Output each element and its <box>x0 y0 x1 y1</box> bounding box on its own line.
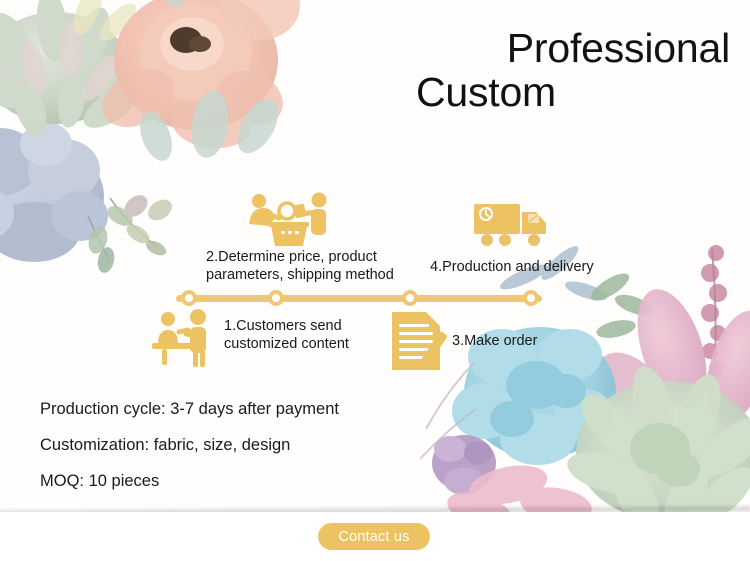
timeline-node-1[interactable] <box>181 290 197 306</box>
floral-bottom-right-svg <box>420 233 750 533</box>
delivery-truck-glyph <box>472 200 552 248</box>
step-1-label: 1.Customers send customized content <box>224 318 404 353</box>
process-timeline <box>176 290 542 306</box>
title-line-custom: Custom <box>330 70 730 114</box>
step-4-label: 4.Production and delivery <box>430 259 620 277</box>
floral-decoration-bottom-right <box>420 233 750 533</box>
timeline-node-2[interactable] <box>268 290 284 306</box>
step-2-label: 2.Determine price, product parameters, s… <box>206 249 418 284</box>
product-inspection-icon <box>243 192 335 248</box>
info-list: Production cycle: 3-7 days after payment… <box>40 400 460 508</box>
step-3-label: 3.Make order <box>452 333 602 351</box>
delivery-truck-icon <box>472 200 552 248</box>
title-line-professional: Professional <box>330 26 730 70</box>
customer-service-desk-glyph <box>152 306 222 368</box>
info-line-production-cycle: Production cycle: 3-7 days after payment <box>40 400 460 418</box>
timeline-node-4[interactable] <box>523 290 539 306</box>
page-title: Professional Custom <box>330 26 730 115</box>
promo-banner: Professional Custom 1.Customers send c <box>0 0 750 561</box>
contact-us-button[interactable]: Contact us <box>318 523 430 550</box>
product-inspection-glyph <box>243 192 335 248</box>
document-pen-icon <box>388 308 450 378</box>
document-pen-glyph <box>388 308 450 378</box>
info-line-moq: MOQ: 10 pieces <box>40 472 460 490</box>
timeline-node-3[interactable] <box>402 290 418 306</box>
customer-service-desk-icon <box>152 306 222 368</box>
info-line-customization: Customization: fabric, size, design <box>40 436 460 454</box>
timeline-rail <box>176 295 542 302</box>
